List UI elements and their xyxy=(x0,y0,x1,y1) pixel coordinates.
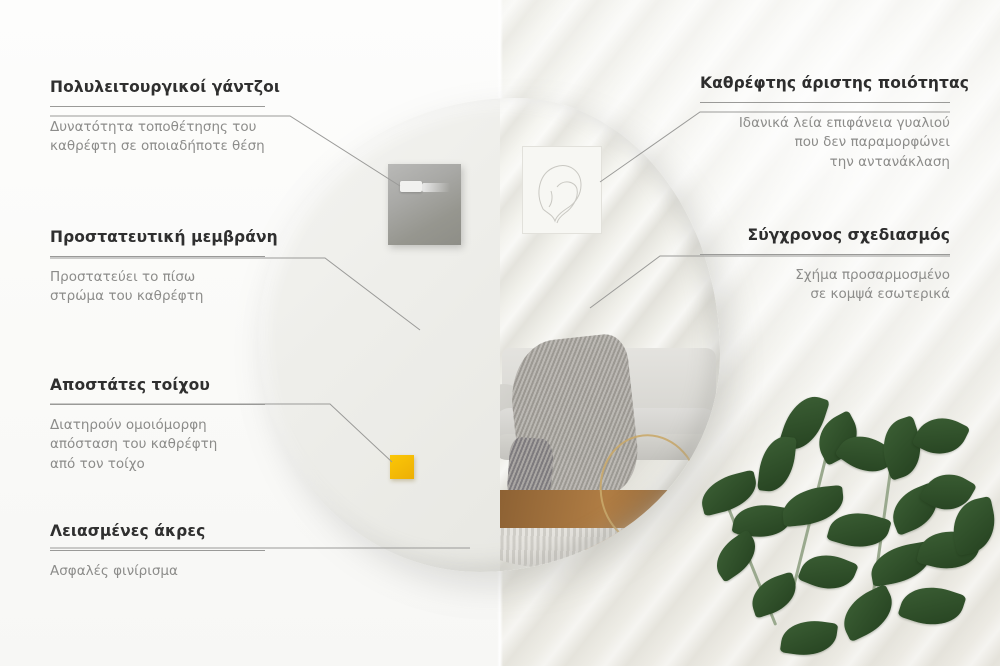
callout-rule xyxy=(50,256,265,257)
hook-highlight xyxy=(422,183,450,192)
callout-modern-design: Σύγχρονος σχεδιασμός Σχήμα προσαρμοσμένο… xyxy=(700,226,950,305)
callout-title: Αποστάτες τοίχου xyxy=(50,376,265,395)
mirror-reflection-face xyxy=(500,98,720,572)
callout-title: Πολυλειτουργικοί γάντζοι xyxy=(50,78,265,97)
callout-rule xyxy=(50,550,265,551)
callout-description: Ιδανικά λεία επιφάνεια γυαλιού που δεν π… xyxy=(700,114,950,173)
callout-description: Σχήμα προσαρμοσμένο σε κομψά εσωτερικά xyxy=(700,266,950,305)
mirror-product xyxy=(258,98,720,572)
callout-description: Διατηρούν ομοιόμορφη απόσταση του καθρέφ… xyxy=(50,416,265,475)
callout-rule xyxy=(700,102,950,103)
foliage-decoration xyxy=(690,380,1000,666)
callout-rule xyxy=(50,106,265,107)
reflected-striped-rug xyxy=(500,528,720,572)
callout-description: Προστατεύει το πίσω στρώμα του καθρέφτη xyxy=(50,268,265,307)
callout-title: Καθρέφτης άριστης ποιότητας xyxy=(700,74,950,93)
callout-smoothed-edges: Λειασμένες άκρες Ασφαλές φινίρισμα xyxy=(50,522,265,581)
callout-title: Σύγχρονος σχεδιασμός xyxy=(700,226,950,245)
mounting-hook-detail xyxy=(388,164,461,245)
callout-protective-film: Προστατευτική μεμβράνη Προστατεύει το πί… xyxy=(50,228,265,307)
callout-title: Προστατευτική μεμβράνη xyxy=(50,228,265,247)
callout-description: Δυνατότητα τοποθέτησης του καθρέφτη σε ο… xyxy=(50,118,265,157)
callout-rule xyxy=(50,404,265,405)
callout-description: Ασφαλές φινίρισμα xyxy=(50,562,265,582)
callout-top-quality-mirror: Καθρέφτης άριστης ποιότητας Ιδανικά λεία… xyxy=(700,74,950,172)
wall-spacer-detail xyxy=(390,455,414,479)
callout-multifunctional-hooks: Πολυλειτουργικοί γάντζοι Δυνατότητα τοπο… xyxy=(50,78,265,157)
hook-slot xyxy=(400,181,422,192)
product-infographic: Πολυλειτουργικοί γάντζοι Δυνατότητα τοπο… xyxy=(0,0,1000,666)
callout-rule xyxy=(700,254,950,255)
line-art-faces-icon xyxy=(522,146,602,234)
mirror-back-face xyxy=(258,98,500,572)
callout-title: Λειασμένες άκρες xyxy=(50,522,265,541)
callout-wall-spacers: Αποστάτες τοίχου Διατηρούν ομοιόμορφη απ… xyxy=(50,376,265,474)
